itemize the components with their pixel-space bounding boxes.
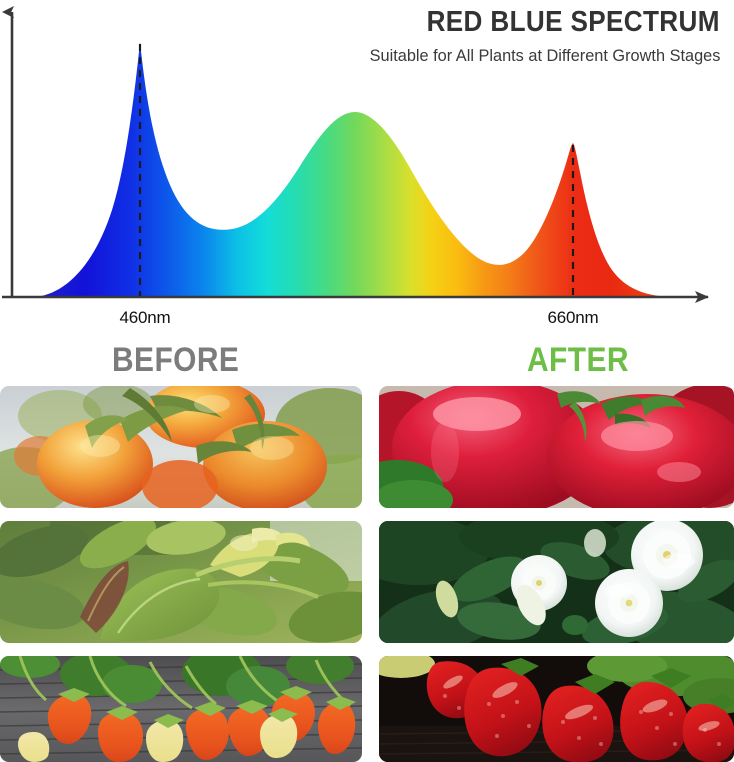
- photo-before-strawberries-image: [0, 656, 362, 762]
- photo-after-tomatoes: [379, 386, 734, 508]
- photo-after-strawberries: [379, 656, 734, 762]
- spectrum-curve-area: [33, 42, 672, 297]
- before-after-photo-grid: [0, 386, 734, 762]
- photo-after-strawberries-image: [379, 656, 734, 762]
- after-heading: AFTER: [527, 341, 629, 379]
- photo-before-tomatoes-image: [0, 386, 362, 508]
- spectrum-chart: 460nm 660nm: [0, 0, 734, 340]
- photo-row: [0, 656, 734, 762]
- photo-after-gardenia-flowers: [379, 521, 734, 643]
- photo-before-tomatoes: [0, 386, 362, 508]
- photo-after-tomatoes-image: [379, 386, 734, 508]
- axis-tick-label-460nm: 460nm: [120, 308, 171, 328]
- photo-row: [0, 521, 734, 643]
- photo-row: [0, 386, 734, 508]
- photo-after-gardenia-flowers-image: [379, 521, 734, 643]
- before-heading: BEFORE: [112, 341, 239, 379]
- photo-before-gardenia-leaves: [0, 521, 362, 643]
- photo-before-strawberries: [0, 656, 362, 762]
- axis-tick-label-660nm: 660nm: [548, 308, 599, 328]
- photo-before-gardenia-leaves-image: [0, 521, 362, 643]
- comparison-headings: BEFORE AFTER: [0, 341, 734, 379]
- spectrum-chart-svg: [0, 0, 734, 340]
